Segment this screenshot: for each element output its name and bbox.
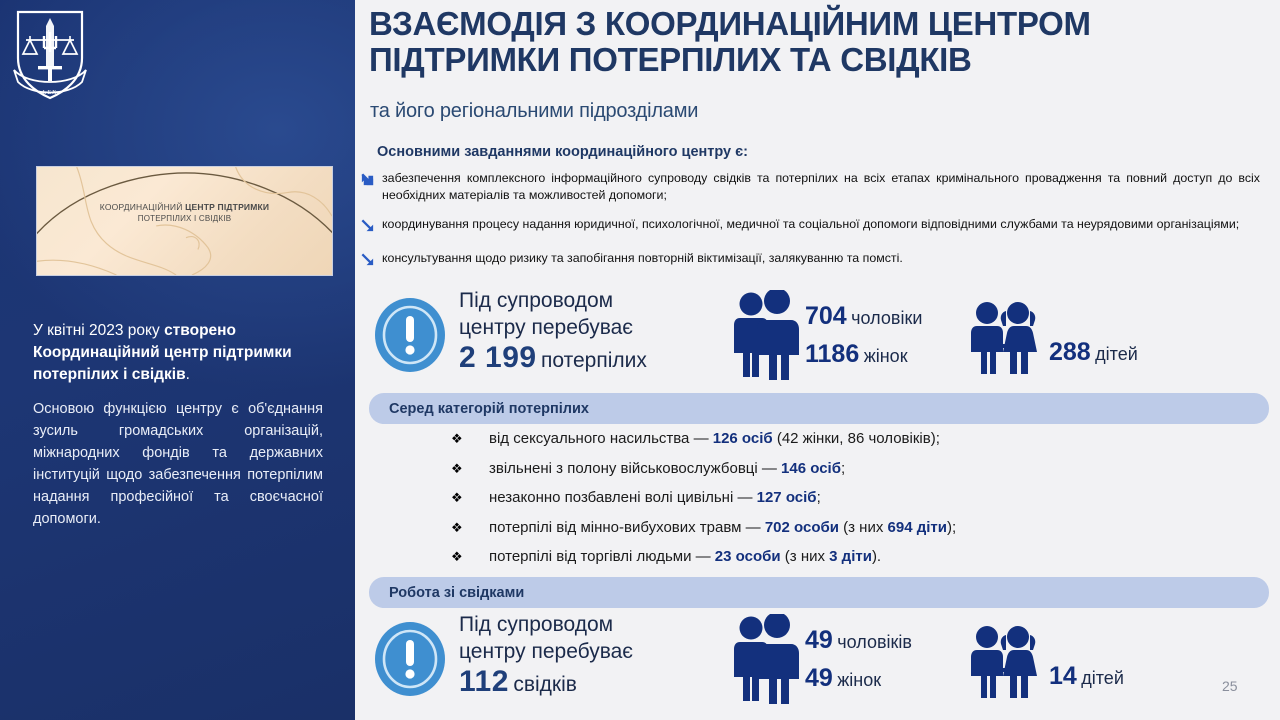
witnesses-label-line1: Під супроводом	[459, 612, 633, 639]
category-suffix: (42 жінки, 86 чоловіків);	[773, 430, 940, 447]
category-value: 127 осіб	[757, 489, 817, 506]
category-suffix: (з них	[781, 548, 830, 565]
children-boy-girl-icon	[965, 300, 1043, 376]
arrow-down-right-icon	[360, 250, 382, 272]
category-value-2: 3 діти	[829, 548, 872, 565]
category-suffix: (з них	[839, 519, 888, 536]
diamond-bullet-icon: ❖	[451, 520, 489, 536]
victims-label-line2: центру перебуває	[459, 315, 633, 342]
category-value: 702 особи	[765, 519, 839, 536]
page-title: ВЗАЄМОДІЯ З КООРДИНАЦІЙНИМ ЦЕНТРОМ ПІДТР…	[369, 6, 1249, 77]
victims-children-number: 288	[1049, 338, 1091, 366]
victim-categories-list: ❖ від сексуального насильства — 126 осіб…	[451, 430, 1271, 578]
center-map-card: КООРДИНАЦІЙНИЙ ЦЕНТР ПІДТРИМКИ ПОТЕРПІЛИ…	[36, 166, 333, 276]
exclamation-circle-icon	[373, 620, 447, 698]
category-text: потерпілі від торгівлі людьми — 23 особи…	[489, 548, 881, 565]
category-value: 23 особи	[715, 548, 781, 565]
svg-text:LEX: LEX	[43, 90, 58, 96]
map-caption-plain: КООРДИНАЦІЙНИЙ	[100, 202, 185, 212]
task-text: забезпечення комплексного інформаційного…	[382, 170, 1260, 204]
list-item: ❖ потерпілі від торгівлі людьми — 23 осо…	[451, 548, 1271, 565]
witnesses-label: Під супроводом центру перебуває	[459, 612, 633, 666]
list-item: забезпечення комплексного інформаційного…	[360, 170, 1260, 204]
sidebar-panel: LEX КООРДИНАЦІЙНИЙ ЦЕНТР ПІДТРИМКИ ПОТЕР…	[0, 0, 355, 720]
category-prefix: потерпілі від мінно-вибухових травм —	[489, 519, 765, 536]
list-item: координування процесу надання юридичної,…	[360, 216, 1260, 238]
diamond-bullet-icon: ❖	[451, 549, 489, 565]
category-value: 146 осіб	[781, 460, 841, 477]
victims-total-unit: потерпілих	[541, 349, 647, 372]
adults-man-woman-icon	[729, 290, 801, 380]
witnesses-stats-strip: Під супроводом центру перебуває 112 свід…	[373, 612, 1268, 708]
sidebar-paragraph-function: Основою функцією центру є об'єднання зус…	[33, 398, 323, 530]
page-number: 25	[1222, 678, 1238, 694]
sidebar-para1-suffix: .	[186, 366, 190, 383]
witnesses-section-header: Робота зі свідками	[369, 577, 1269, 608]
sidebar-para1-prefix: У квітні 2023 року	[33, 322, 164, 339]
map-caption-line2: ПОТЕРПІЛИХ І СВІДКІВ	[37, 213, 332, 225]
tasks-lead-text: Основними завданнями координаційного цен…	[377, 144, 748, 160]
task-text: консультування щодо ризику та запобіганн…	[382, 250, 1260, 267]
category-value: 126 осіб	[713, 430, 773, 447]
victims-total-number: 2 199	[459, 341, 537, 374]
sidebar-paragraph-created: У квітні 2023 року створено Координаційн…	[33, 320, 323, 386]
category-prefix: потерпілі від торгівлі людьми —	[489, 548, 715, 565]
category-prefix: незаконно позбавлені волі цивільні —	[489, 489, 757, 506]
children-boy-girl-icon	[965, 624, 1043, 700]
category-text: потерпілі від мінно-вибухових травм — 70…	[489, 519, 956, 536]
arrow-down-right-icon	[360, 170, 382, 192]
list-item: ❖ звільнені з полону військовослужбовці …	[451, 460, 1271, 477]
witnesses-adult-counts: 49 чоловіків 49 жінок	[805, 626, 912, 702]
victims-children-word: дітей	[1095, 344, 1138, 364]
list-item: консультування щодо ризику та запобіганн…	[360, 250, 1260, 272]
witnesses-label-line2: центру перебуває	[459, 639, 633, 666]
category-suffix: ;	[817, 489, 821, 506]
witnesses-men-word: чоловіків	[837, 632, 912, 652]
list-item: ❖ незаконно позбавлені волі цивільні — 1…	[451, 489, 1271, 506]
diamond-bullet-icon: ❖	[451, 461, 489, 477]
victims-women-word: жінок	[864, 346, 908, 366]
victims-label: Під супроводом центру перебуває	[459, 288, 633, 342]
victims-stats-strip: Під супроводом центру перебуває 2 199 по…	[373, 288, 1268, 384]
prosecutor-general-office-emblem: LEX	[8, 6, 92, 102]
victims-men-number: 704	[805, 302, 847, 330]
victims-men-row: 704 чоловіки	[805, 302, 922, 331]
category-value-2: 694 діти	[888, 519, 947, 536]
witnesses-total: 112 свідків	[459, 665, 577, 699]
victims-label-line1: Під супроводом	[459, 288, 633, 315]
page-subtitle: та його регіональними підрозділами	[370, 100, 1250, 123]
arrow-down-right-icon	[360, 216, 382, 238]
category-prefix: звільнені з полону військовослужбовці —	[489, 460, 781, 477]
witnesses-women-word: жінок	[837, 670, 881, 690]
list-item: ❖ потерпілі від мінно-вибухових травм — …	[451, 519, 1271, 536]
category-suffix: ;	[841, 460, 845, 477]
diamond-bullet-icon: ❖	[451, 431, 489, 447]
diamond-bullet-icon: ❖	[451, 490, 489, 506]
victims-women-number: 1186	[805, 340, 859, 368]
categories-section-title: Серед категорій потерпілих	[389, 401, 589, 417]
category-text: звільнені з полону військовослужбовці — …	[489, 460, 845, 477]
witnesses-women-number: 49	[805, 664, 833, 692]
witnesses-children-word: дітей	[1081, 668, 1124, 688]
victims-adult-counts: 704 чоловіки 1186 жінок	[805, 302, 922, 378]
witnesses-section-title: Робота зі свідками	[389, 585, 524, 601]
list-item: ❖ від сексуального насильства — 126 осіб…	[451, 430, 1271, 447]
presentation-slide: LEX КООРДИНАЦІЙНИЙ ЦЕНТР ПІДТРИМКИ ПОТЕР…	[0, 0, 1280, 720]
witnesses-children-count: 14 дітей	[1049, 662, 1124, 691]
map-card-caption: КООРДИНАЦІЙНИЙ ЦЕНТР ПІДТРИМКИ ПОТЕРПІЛИ…	[37, 201, 332, 225]
exclamation-circle-icon	[373, 296, 447, 374]
category-text: від сексуального насильства — 126 осіб (…	[489, 430, 940, 447]
witnesses-children-number: 14	[1049, 662, 1077, 690]
witnesses-men-number: 49	[805, 626, 833, 654]
witnesses-total-unit: свідків	[513, 673, 577, 696]
victims-men-word: чоловіки	[851, 308, 922, 328]
witnesses-men-row: 49 чоловіків	[805, 626, 912, 655]
category-text: незаконно позбавлені волі цивільні — 127…	[489, 489, 821, 506]
witnesses-total-number: 112	[459, 665, 509, 698]
category-suffix-2: );	[947, 519, 956, 536]
witnesses-women-row: 49 жінок	[805, 664, 912, 693]
adults-man-woman-icon	[729, 614, 801, 704]
main-content: ВЗАЄМОДІЯ З КООРДИНАЦІЙНИМ ЦЕНТРОМ ПІДТР…	[355, 0, 1280, 720]
category-suffix-2: ).	[872, 548, 881, 565]
categories-section-header: Серед категорій потерпілих	[369, 393, 1269, 424]
map-caption-bold: ЦЕНТР ПІДТРИМКИ	[185, 202, 269, 212]
category-prefix: від сексуального насильства —	[489, 430, 713, 447]
victims-women-row: 1186 жінок	[805, 340, 922, 369]
victims-children-count: 288 дітей	[1049, 338, 1138, 367]
task-text: координування процесу надання юридичної,…	[382, 216, 1260, 233]
tasks-bullet-list: забезпечення комплексного інформаційного…	[360, 170, 1260, 280]
victims-total: 2 199 потерпілих	[459, 341, 647, 375]
